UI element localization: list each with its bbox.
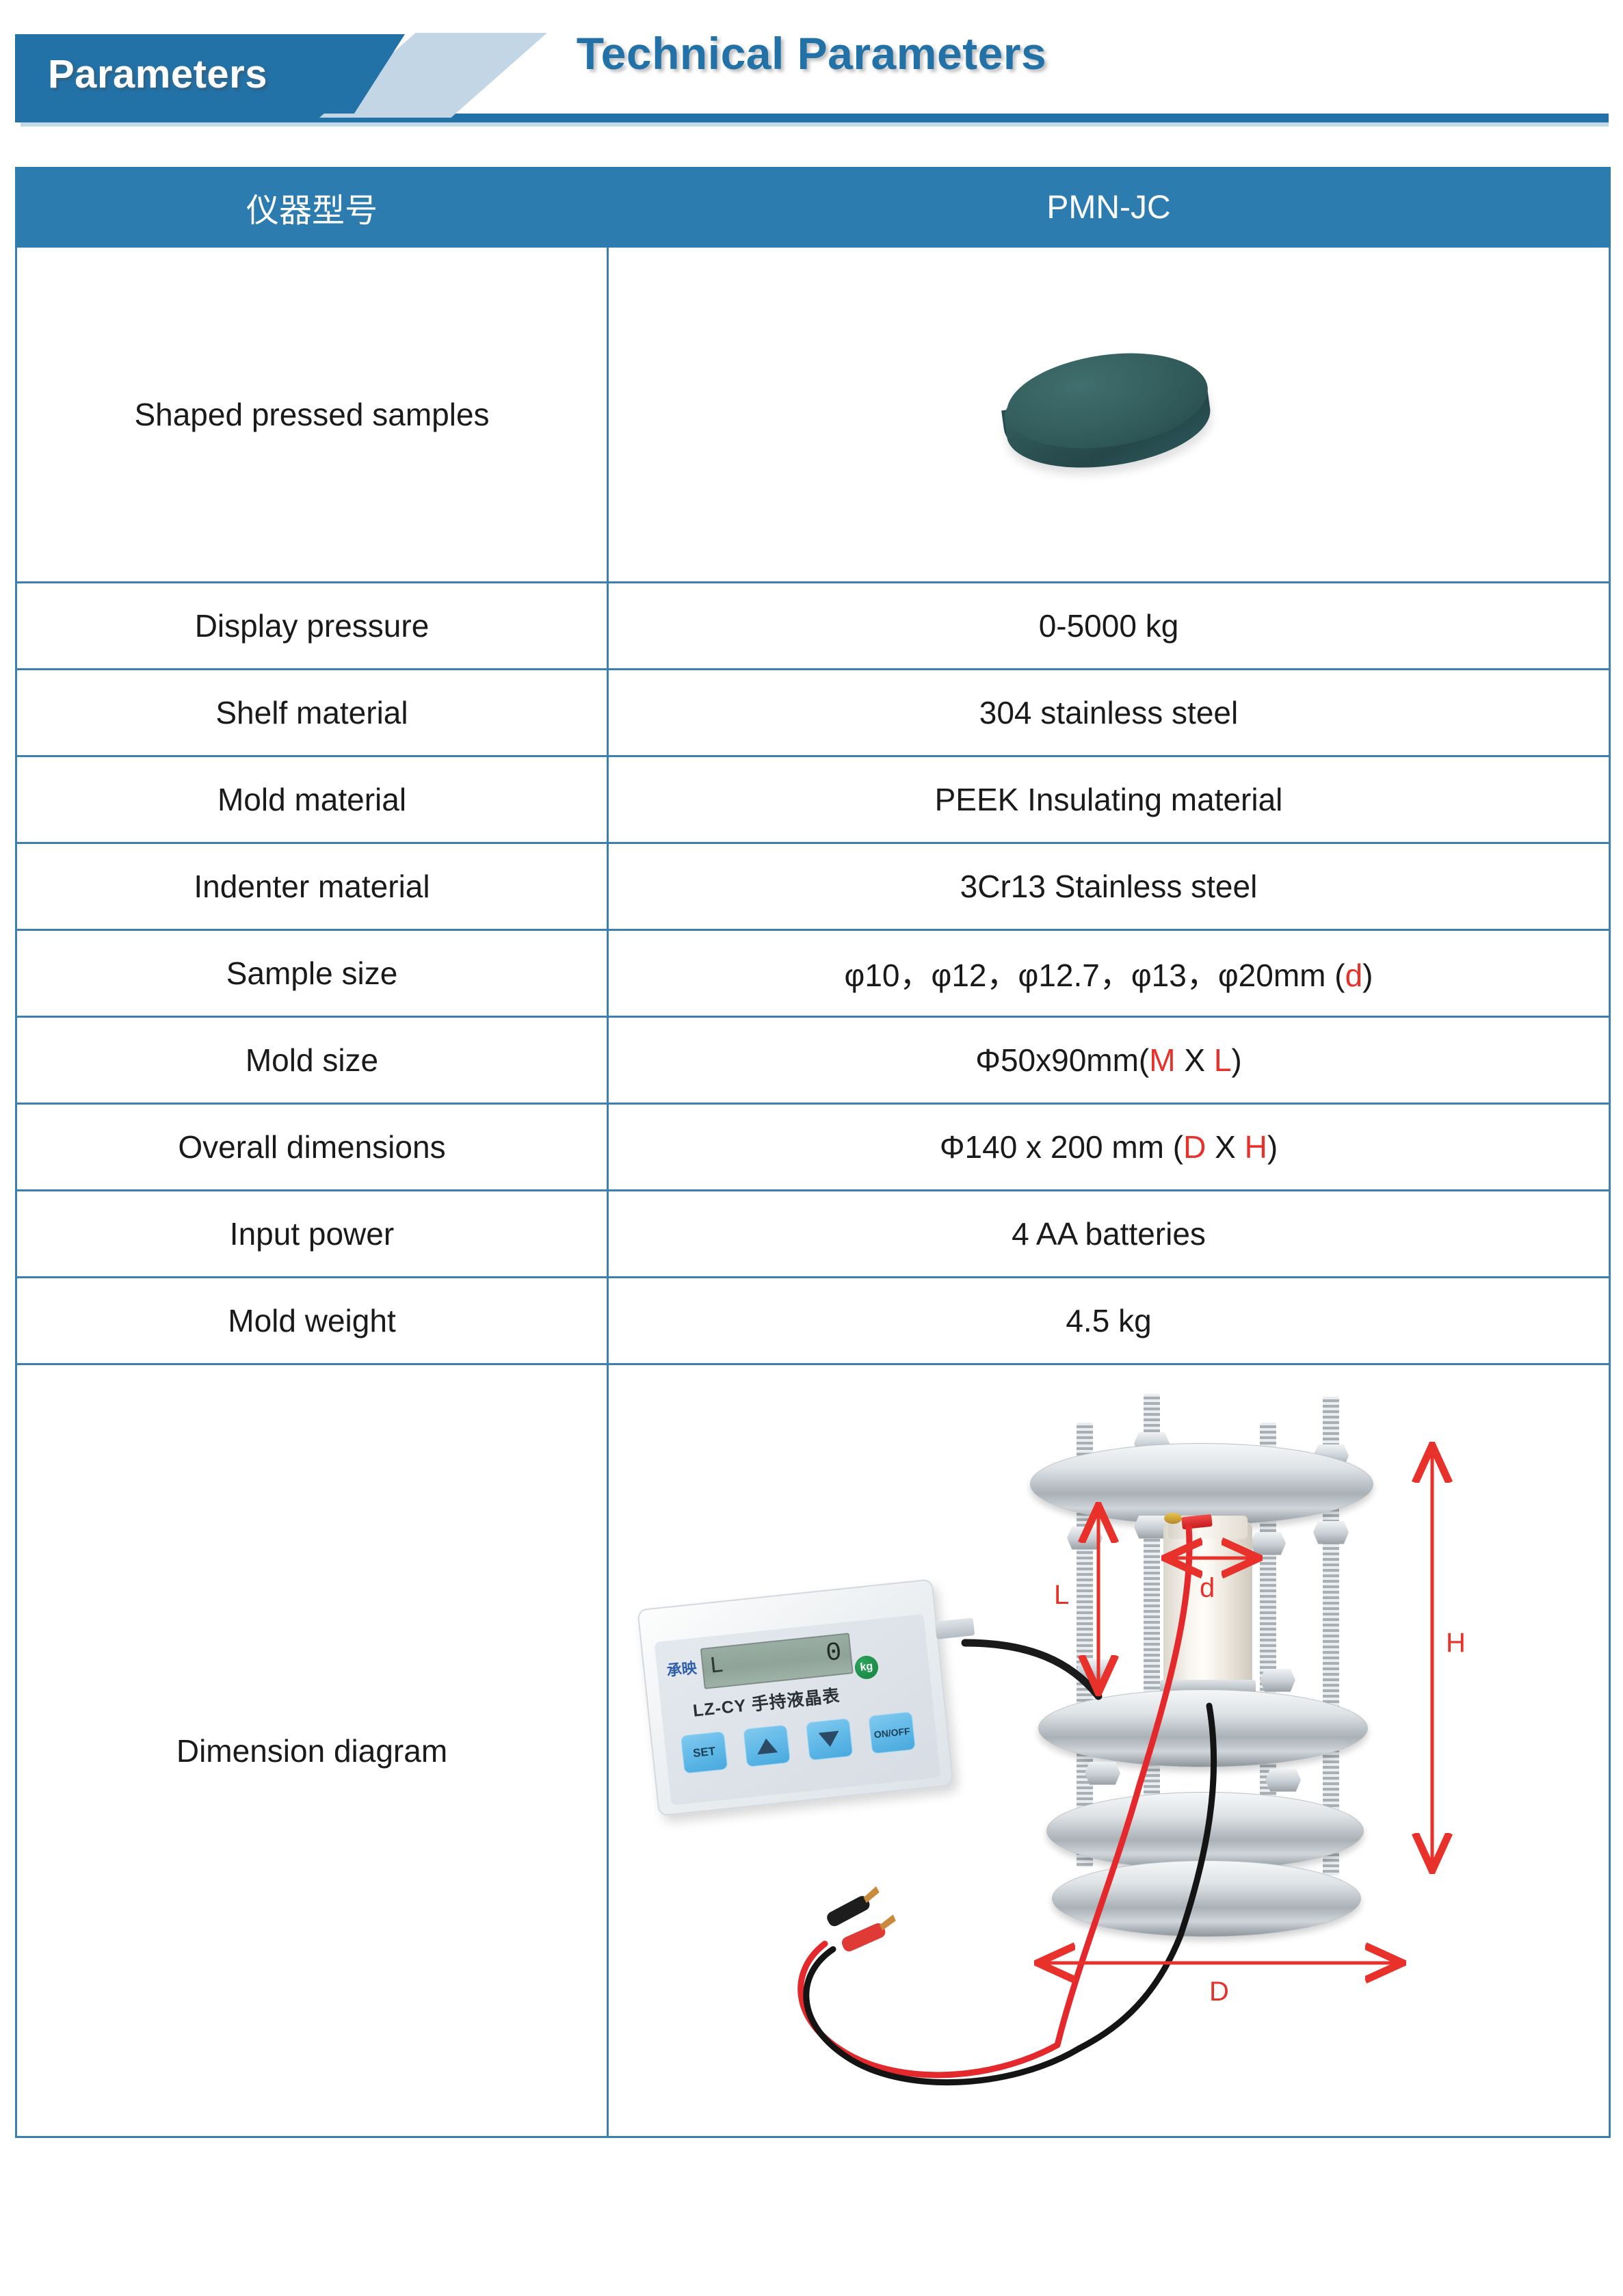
overall-dim-symbol-h: H [1245, 1129, 1267, 1165]
meter-button-row: SET ON/OFF [681, 1711, 916, 1773]
header-cell-model-label: 仪器型号 [16, 168, 608, 247]
table-row-overall-dimensions: Overall dimensions Φ140 x 200 mm (D X H) [16, 1104, 1610, 1191]
page-header: Parameters Technical Parameters [0, 0, 1623, 137]
sample-size-tail: ) [1362, 958, 1373, 993]
lcd-right-digit: 0 [825, 1638, 843, 1668]
header-rule [15, 114, 1609, 122]
row-label-mold-size: Mold size [16, 1017, 608, 1104]
overall-dim-tail: ) [1267, 1129, 1278, 1165]
table-row-sample-size: Sample size φ10，φ12，φ12.7，φ13，φ20mm (d) [16, 930, 1610, 1017]
kg-unit-badge: kg [854, 1654, 879, 1680]
hex-nut-7 [1250, 1532, 1286, 1555]
row-label-shelf-material: Shelf material [16, 670, 608, 756]
sample-size-symbol-d: d [1345, 958, 1363, 993]
row-label-mold-weight: Mold weight [16, 1278, 608, 1364]
set-button[interactable]: SET [681, 1731, 728, 1773]
up-arrow-button[interactable] [743, 1724, 791, 1767]
row-value-dimension-diagram: 承映 L 0 kg LZ-CY 手持液晶表 SET ON/OFF [608, 1364, 1610, 2137]
row-value-shelf-material: 304 stainless steel [608, 670, 1610, 756]
meter-face-panel: 承映 L 0 kg LZ-CY 手持液晶表 SET ON/OFF [654, 1613, 940, 1805]
row-value-shaped-samples [608, 247, 1610, 583]
row-label-indenter-material: Indenter material [16, 843, 608, 930]
row-value-display-pressure: 0-5000 kg [608, 583, 1610, 670]
table-row-input-power: Input power 4 AA batteries [16, 1191, 1610, 1278]
table-row-display-pressure: Display pressure 0-5000 kg [16, 583, 1610, 670]
top-plate [1030, 1443, 1373, 1525]
press-fixture: 压力传感器 型号：JZC-B1-6T 产品编号：2311279Z [1016, 1382, 1399, 1949]
sample-size-text: φ10，φ12，φ12.7，φ13，φ20mm ( [845, 958, 1345, 993]
hex-nut-12 [1265, 1769, 1301, 1792]
mold-size-tail: ) [1231, 1042, 1241, 1078]
mold-size-symbol-m: M [1149, 1042, 1175, 1078]
table-row-mold-size: Mold size Φ50x90mm(M X L) [16, 1017, 1610, 1104]
dimension-label-D: D [1209, 1977, 1229, 2007]
row-value-overall-dimensions: Φ140 x 200 mm (D X H) [608, 1104, 1610, 1191]
table-row-dimension-diagram: Dimension diagram 承映 L 0 kg LZ-CY 手持液晶表 [16, 1364, 1610, 2137]
pressed-sample-disk-image [992, 336, 1225, 493]
triangle-down-icon [819, 1730, 841, 1747]
dimension-diagram-image: 承映 L 0 kg LZ-CY 手持液晶表 SET ON/OFF [620, 1375, 1598, 2127]
technical-parameters-table: 仪器型号 PMN-JC Shaped pressed samples Displ… [15, 167, 1611, 2138]
meter-lcd-display: L 0 [700, 1633, 854, 1689]
row-label-display-pressure: Display pressure [16, 583, 608, 670]
hex-nut-5 [1067, 1527, 1103, 1550]
table-row-mold-weight: Mold weight 4.5 kg [16, 1278, 1610, 1364]
header-rule-shadow [21, 122, 1609, 127]
row-value-mold-material: PEEK Insulating material [608, 756, 1610, 843]
meter-cable-port [935, 1618, 975, 1639]
row-label-shaped-samples: Shaped pressed samples [16, 247, 608, 583]
row-value-mold-weight: 4.5 kg [608, 1278, 1610, 1364]
mold-size-sep: X [1176, 1042, 1214, 1078]
down-arrow-button[interactable] [806, 1717, 854, 1760]
table-header-row: 仪器型号 PMN-JC [16, 168, 1610, 247]
table-row-shelf-material: Shelf material 304 stainless steel [16, 670, 1610, 756]
row-value-mold-size: Φ50x90mm(M X L) [608, 1017, 1610, 1104]
dimension-label-d: d [1200, 1573, 1215, 1604]
mold-size-symbol-l: L [1214, 1042, 1232, 1078]
table-row-mold-material: Mold material PEEK Insulating material [16, 756, 1610, 843]
table-row-indenter-material: Indenter material 3Cr13 Stainless steel [16, 843, 1610, 930]
row-value-sample-size: φ10，φ12，φ12.7，φ13，φ20mm (d) [608, 930, 1610, 1017]
dimension-label-L: L [1054, 1580, 1069, 1611]
row-label-dimension-diagram: Dimension diagram [16, 1364, 608, 2137]
alligator-clip-red [839, 1914, 899, 1953]
lead-loop-black [806, 1949, 1079, 2083]
mold-size-text: Φ50x90mm( [975, 1042, 1149, 1078]
row-value-indenter-material: 3Cr13 Stainless steel [608, 843, 1610, 930]
page-title: Technical Parameters [0, 27, 1623, 79]
overall-dim-symbol-d: D [1183, 1129, 1206, 1165]
overall-dim-text: Φ140 x 200 mm ( [940, 1129, 1183, 1165]
row-label-overall-dimensions: Overall dimensions [16, 1104, 608, 1191]
lcd-left-digit: L [709, 1652, 725, 1680]
hex-nut-10 [1260, 1669, 1295, 1692]
meter-brand-label: 承映 [665, 1655, 698, 1680]
row-value-input-power: 4 AA batteries [608, 1191, 1610, 1278]
peek-mold-cylinder [1163, 1522, 1252, 1693]
dimension-label-H: H [1446, 1628, 1466, 1659]
overall-dim-sep: X [1206, 1129, 1244, 1165]
gold-terminal-top [1164, 1513, 1182, 1524]
hex-nut-9 [1077, 1659, 1112, 1683]
row-label-input-power: Input power [16, 1191, 608, 1278]
hex-nut-8 [1313, 1521, 1349, 1544]
hex-nut-11 [1085, 1762, 1120, 1785]
lead-loop-red [801, 1944, 1057, 2075]
row-label-mold-material: Mold material [16, 756, 608, 843]
alligator-clip-black [824, 1886, 884, 1928]
middle-plate [1038, 1689, 1368, 1767]
lower-plate [1046, 1792, 1364, 1870]
row-label-sample-size: Sample size [16, 930, 608, 1017]
header-cell-model-value: PMN-JC [608, 168, 1610, 247]
base-plate [1052, 1860, 1361, 1937]
triangle-up-icon [756, 1737, 778, 1754]
handheld-meter: 承映 L 0 kg LZ-CY 手持液晶表 SET ON/OFF [637, 1579, 953, 1817]
table-row-shaped-samples: Shaped pressed samples [16, 247, 1610, 583]
onoff-button[interactable]: ON/OFF [868, 1711, 916, 1754]
